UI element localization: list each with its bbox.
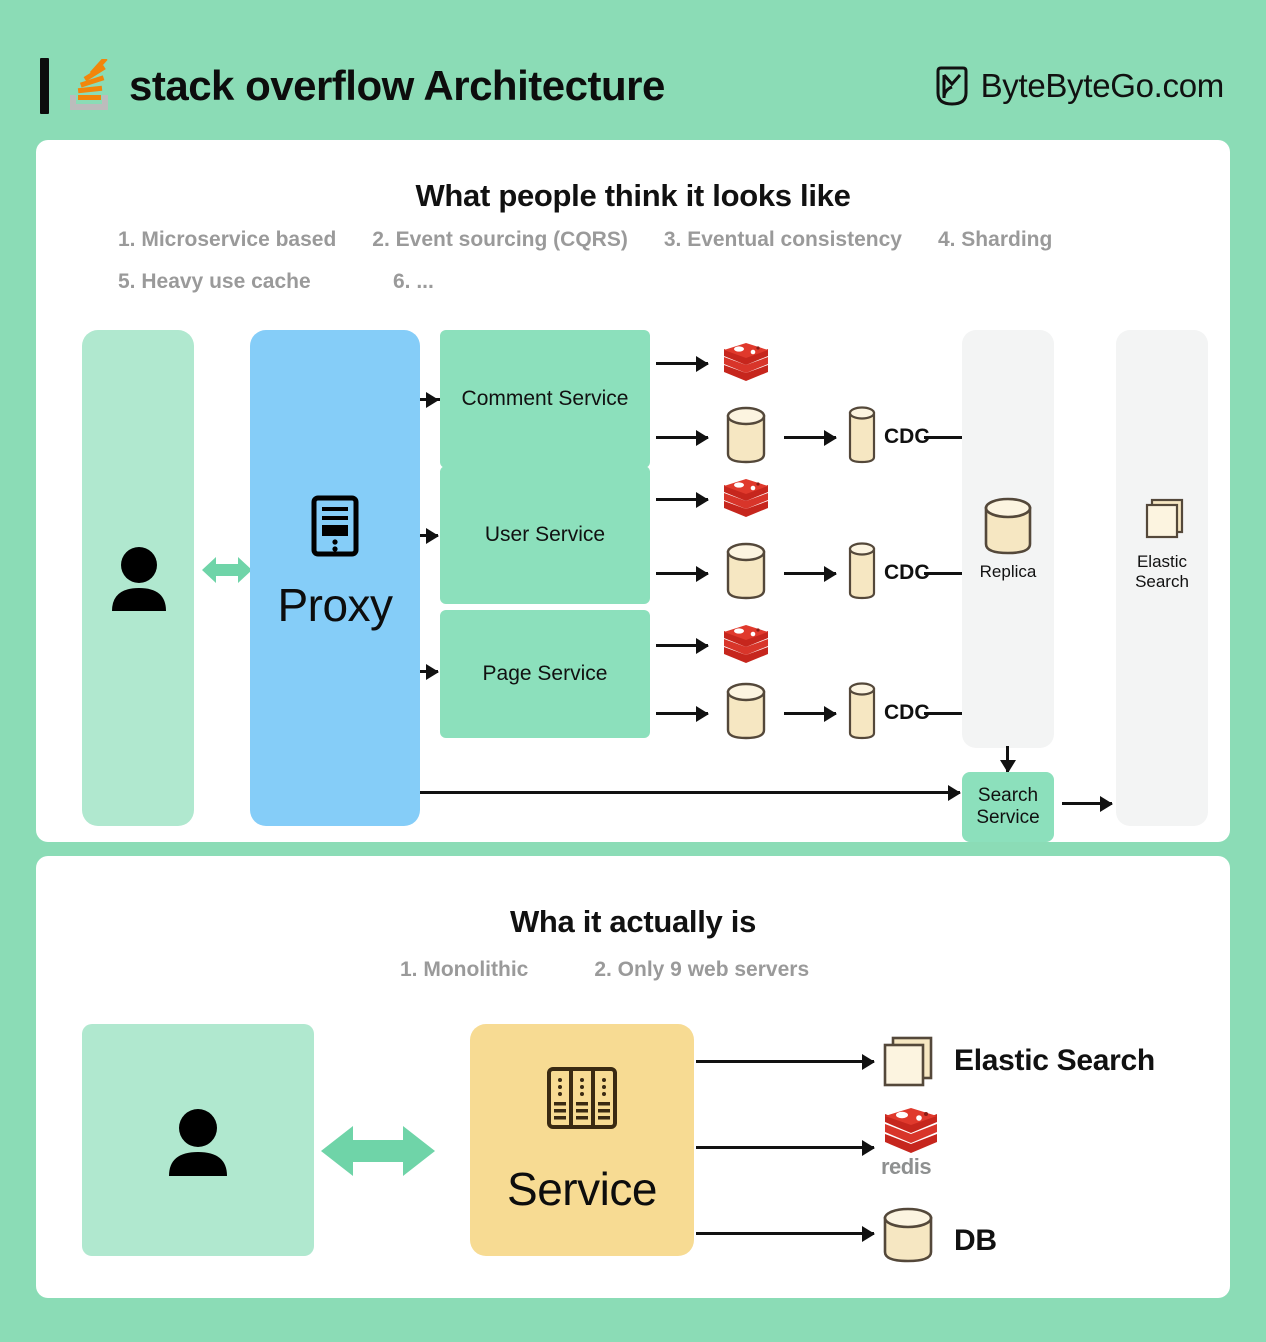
bullet-item: 1. Monolithic (400, 958, 528, 982)
arrow-user-to-redis (656, 498, 708, 501)
bullet-item: 3. Eventual consistency (664, 228, 902, 252)
brand-group[interactable]: ByteByteGo.com (935, 66, 1224, 106)
target-label-db: DB (954, 1224, 997, 1258)
cdc-label-2: CDC (884, 561, 930, 585)
arrow-proxy-to-user (420, 534, 438, 537)
vertical-bar-glyph (40, 58, 49, 114)
arrow-db-to-cdc-2 (784, 572, 836, 575)
database-icon (983, 496, 1033, 556)
bottom-section-title: Wha it actually is (36, 904, 1230, 940)
arrow-proxy-to-search-service (420, 791, 960, 794)
arrow-service-to-elastic (696, 1060, 874, 1063)
cdc-label-1: CDC (884, 425, 930, 449)
redis-icon (882, 1108, 940, 1156)
arrow-comment-to-redis (656, 362, 708, 365)
top-section-title: What people think it looks like (36, 178, 1230, 214)
bottom-exchange-double-arrow-icon (321, 1124, 435, 1178)
top-panel-card: What people think it looks like 1. Micro… (36, 140, 1230, 842)
database-icon (726, 406, 766, 464)
arrow-service-to-redis (696, 1146, 874, 1149)
service-label: User Service (485, 523, 605, 547)
target-label-redis: redis (881, 1154, 931, 1180)
elastic-caption-line2: Search (1116, 572, 1208, 592)
elastic-caption-line1: Elastic (1116, 552, 1208, 572)
arrow-proxy-to-comment (420, 398, 438, 401)
bullet-item: 5. Heavy use cache (118, 270, 393, 294)
service-box-user[interactable]: User Service (440, 466, 650, 604)
top-exchange-double-arrow-icon (202, 552, 252, 588)
bottom-panel-card: Wha it actually is 1. Monolithic 2. Only… (36, 856, 1230, 1298)
arrow-user-to-db (656, 572, 708, 575)
arrow-db-to-cdc-3 (784, 712, 836, 715)
arrow-db-to-cdc-1 (784, 436, 836, 439)
bottom-user-box (82, 1024, 314, 1256)
bullet-item: 2. Only 9 web servers (594, 958, 809, 982)
proxy-lane[interactable]: Proxy (250, 330, 420, 826)
arrow-page-to-redis (656, 644, 708, 647)
brand-label: ByteByteGo.com (981, 67, 1224, 105)
search-service-line2: Service (976, 807, 1039, 829)
server-rack-icon (546, 1066, 618, 1130)
arrow-service-to-db (696, 1232, 874, 1235)
service-label: Comment Service (462, 387, 629, 411)
database-icon (726, 682, 766, 740)
title-group: stack overflow Architecture (40, 58, 665, 114)
page-title: stack overflow Architecture (129, 62, 665, 110)
top-user-lane (82, 330, 194, 826)
target-label-elastic: Elastic Search (954, 1044, 1155, 1078)
page-header: stack overflow Architecture ByteByteGo.c… (0, 0, 1266, 140)
monolith-service-box[interactable]: Service (470, 1024, 694, 1256)
redis-icon (722, 343, 770, 383)
bytebytego-logo (935, 66, 969, 106)
proxy-label: Proxy (250, 578, 420, 632)
server-tower-icon (308, 495, 362, 557)
stack-overflow-logo (63, 59, 115, 113)
log-cylinder-icon (848, 682, 876, 740)
replica-caption: Replica (962, 562, 1054, 582)
bullet-item: 4. Sharding (938, 228, 1052, 252)
bottom-bullets-row: 1. Monolithic 2. Only 9 web servers (400, 958, 809, 982)
replica-lane: Replica (962, 330, 1054, 748)
bullet-item: 6. ... (393, 270, 434, 294)
service-label: Page Service (483, 662, 608, 686)
redis-icon (722, 479, 770, 519)
top-bullets-row-2: 5. Heavy use cache 6. ... (118, 270, 434, 294)
redis-icon (722, 625, 770, 665)
service-box-page[interactable]: Page Service (440, 610, 650, 738)
bullet-item: 1. Microservice based (118, 228, 336, 252)
arrow-search-service-to-elastic (1062, 802, 1112, 805)
arrow-proxy-to-page (420, 670, 438, 673)
database-icon (726, 542, 766, 600)
log-cylinder-icon (848, 406, 876, 464)
arrow-page-to-db (656, 712, 708, 715)
service-box-comment[interactable]: Comment Service (440, 330, 650, 468)
search-service-box[interactable]: Search Service (962, 772, 1054, 842)
database-icon (882, 1206, 934, 1264)
search-service-line1: Search (978, 785, 1038, 807)
user-icon (108, 545, 170, 611)
log-cylinder-icon (848, 542, 876, 600)
elastic-search-lane: Elastic Search (1116, 330, 1208, 826)
top-bullets-row-1: 1. Microservice based 2. Event sourcing … (118, 228, 1052, 252)
cdc-label-3: CDC (884, 701, 930, 725)
bullet-item: 2. Event sourcing (CQRS) (372, 228, 628, 252)
user-icon (165, 1106, 231, 1176)
arrow-comment-to-db (656, 436, 708, 439)
documents-stack-icon (1142, 496, 1186, 542)
monolith-service-label: Service (470, 1162, 694, 1216)
arrow-replica-to-search-service (1006, 746, 1009, 772)
documents-stack-icon (880, 1034, 936, 1090)
